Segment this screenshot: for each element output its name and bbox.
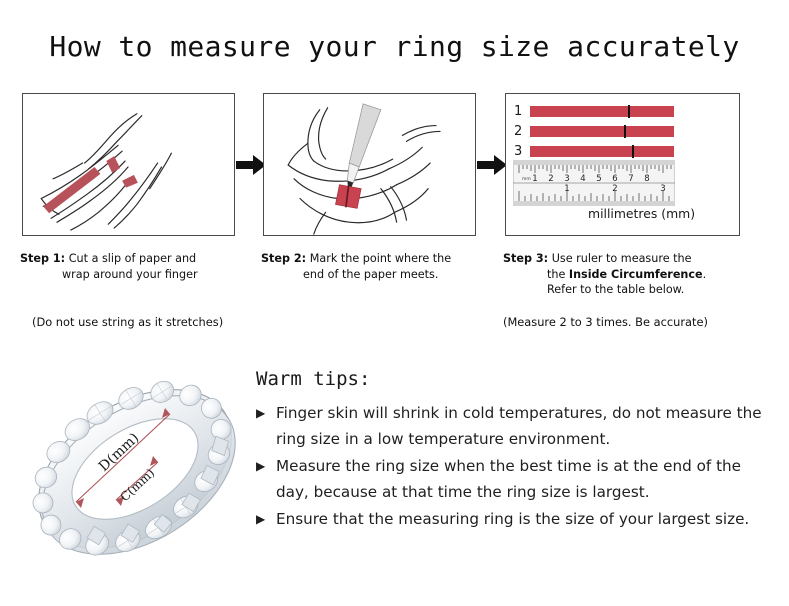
paper-strip-number-3: 3 xyxy=(514,144,530,159)
svg-text:7: 7 xyxy=(628,174,633,184)
hand-marking-paper-icon xyxy=(264,94,475,235)
svg-text:2: 2 xyxy=(548,174,553,184)
paper-strip-bar-1 xyxy=(530,106,674,117)
paper-strip-mark-2 xyxy=(624,125,626,138)
step-3-line2-suffix: . xyxy=(703,268,707,281)
warm-tip-item-3: ▶ Ensure that the measuring ring is the … xyxy=(256,506,766,532)
triangle-bullet-icon-3: ▶ xyxy=(256,506,265,532)
warm-tip-item-1: ▶ Finger skin will shrink in cold temper… xyxy=(256,400,766,452)
step-3-inside-circumference-emphasis: Inside Circumference xyxy=(569,268,703,281)
svg-text:5: 5 xyxy=(596,174,601,184)
svg-text:8: 8 xyxy=(644,174,649,184)
warm-tip-item-2: ▶ Measure the ring size when the best ti… xyxy=(256,453,766,505)
arrow-right-icon-1 xyxy=(236,153,266,177)
paper-strip-mark-3 xyxy=(632,145,634,158)
paper-strip-bar-3 xyxy=(530,146,674,157)
ring-diagram: D(mm) C(mm) xyxy=(18,352,253,587)
page-title: How to measure your ring size accurately xyxy=(0,30,789,63)
svg-text:4: 4 xyxy=(580,174,585,184)
triangle-bullet-icon-1: ▶ xyxy=(256,400,265,426)
ruler-unit-label: millimetres (mm) xyxy=(588,206,695,221)
svg-text:1: 1 xyxy=(532,174,537,184)
step-2-illustration-panel xyxy=(263,93,476,236)
step-3-line2-prefix: the xyxy=(547,268,569,281)
svg-text:3: 3 xyxy=(564,174,569,184)
triangle-bullet-icon-2: ▶ xyxy=(256,453,265,479)
warm-tip-text-2: Measure the ring size when the best time… xyxy=(276,457,741,501)
paper-strip-mark-1 xyxy=(628,105,630,118)
paper-strip-number-2: 2 xyxy=(514,124,530,139)
svg-text:6: 6 xyxy=(612,174,617,184)
svg-text:2: 2 xyxy=(612,184,617,194)
svg-text:mm: mm xyxy=(522,177,531,182)
step-1-line2: wrap around your finger xyxy=(20,267,250,283)
step-2-caption: Step 2: Mark the point where the end of … xyxy=(261,251,491,282)
hand-with-paper-strip-icon xyxy=(23,94,234,235)
warm-tip-text-1: Finger skin will shrink in cold temperat… xyxy=(276,404,762,448)
paper-strip-number-1: 1 xyxy=(514,104,530,119)
step-3-illustration-panel: 1 2 3 xyxy=(505,93,740,236)
arrow-right-icon-2 xyxy=(477,153,507,177)
svg-text:3: 3 xyxy=(660,184,665,194)
svg-text:1: 1 xyxy=(564,184,569,194)
ruler-icon: 12 34 56 78 12 3 mm xyxy=(513,160,675,206)
step-3-line1: Use ruler to measure the xyxy=(552,252,692,265)
step-1-line1: Cut a slip of paper and xyxy=(69,252,196,265)
paper-strip-bar-2 xyxy=(530,126,674,137)
step-3-note: (Measure 2 to 3 times. Be accurate) xyxy=(503,315,708,329)
step-1-illustration-panel xyxy=(22,93,235,236)
step-3-line3: Refer to the table below. xyxy=(503,282,753,298)
step-3-label: Step 3: xyxy=(503,252,548,265)
step-1-label: Step 1: xyxy=(20,252,65,265)
paper-strip-row-3: 3 xyxy=(514,144,674,159)
step-2-line1: Mark the point where the xyxy=(310,252,451,265)
paper-strip-row-2: 2 xyxy=(514,124,674,139)
step-1-note: (Do not use string as it stretches) xyxy=(32,315,223,329)
step-2-label: Step 2: xyxy=(261,252,306,265)
warm-tips-list: ▶ Finger skin will shrink in cold temper… xyxy=(256,400,766,533)
step-1-caption: Step 1: Cut a slip of paper and wrap aro… xyxy=(20,251,250,282)
paper-strip-row-1: 1 xyxy=(514,104,674,119)
step-3-caption: Step 3: Use ruler to measure the the Ins… xyxy=(503,251,753,298)
step-2-line2: end of the paper meets. xyxy=(261,267,491,283)
warm-tip-text-3: Ensure that the measuring ring is the si… xyxy=(276,510,749,528)
warm-tips-heading: Warm tips: xyxy=(256,368,370,390)
